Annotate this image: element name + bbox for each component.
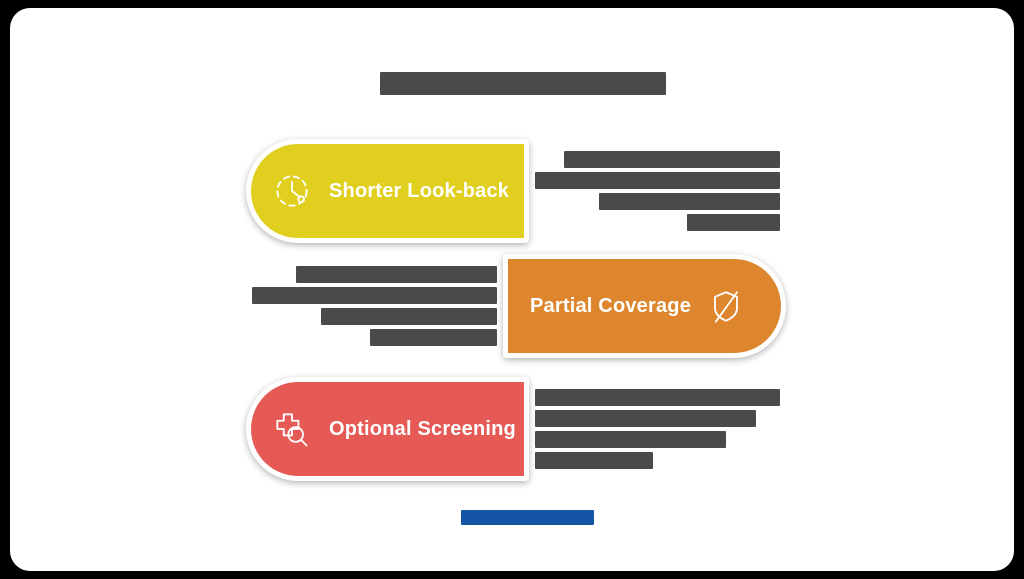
pill-partial-coverage[interactable]: Partial Coverage — [503, 254, 786, 358]
source-link[interactable] — [461, 510, 594, 525]
pill-optional-screening[interactable]: Optional Screening — [246, 377, 529, 481]
infographic-canvas: Shorter Look-back Partial Coverage — [0, 0, 1024, 579]
page-title — [380, 72, 666, 95]
shield-off-icon — [703, 283, 749, 329]
row-optional-screening: Optional Screening — [246, 377, 786, 481]
pill-label: Shorter Look-back — [329, 180, 509, 203]
pill-label: Partial Coverage — [530, 295, 691, 318]
content-card: Shorter Look-back Partial Coverage — [10, 8, 1014, 571]
description-text-partial-coverage — [246, 262, 503, 350]
description-text-optional-screening — [529, 385, 786, 473]
row-partial-coverage: Partial Coverage — [246, 254, 786, 358]
clock-dashed-icon — [269, 168, 315, 214]
medical-cross-search-icon — [269, 406, 315, 452]
description-text-shorter-look-back — [529, 147, 786, 235]
pill-shorter-look-back[interactable]: Shorter Look-back — [246, 139, 529, 243]
row-shorter-look-back: Shorter Look-back — [246, 139, 786, 243]
pill-label: Optional Screening — [329, 418, 516, 441]
